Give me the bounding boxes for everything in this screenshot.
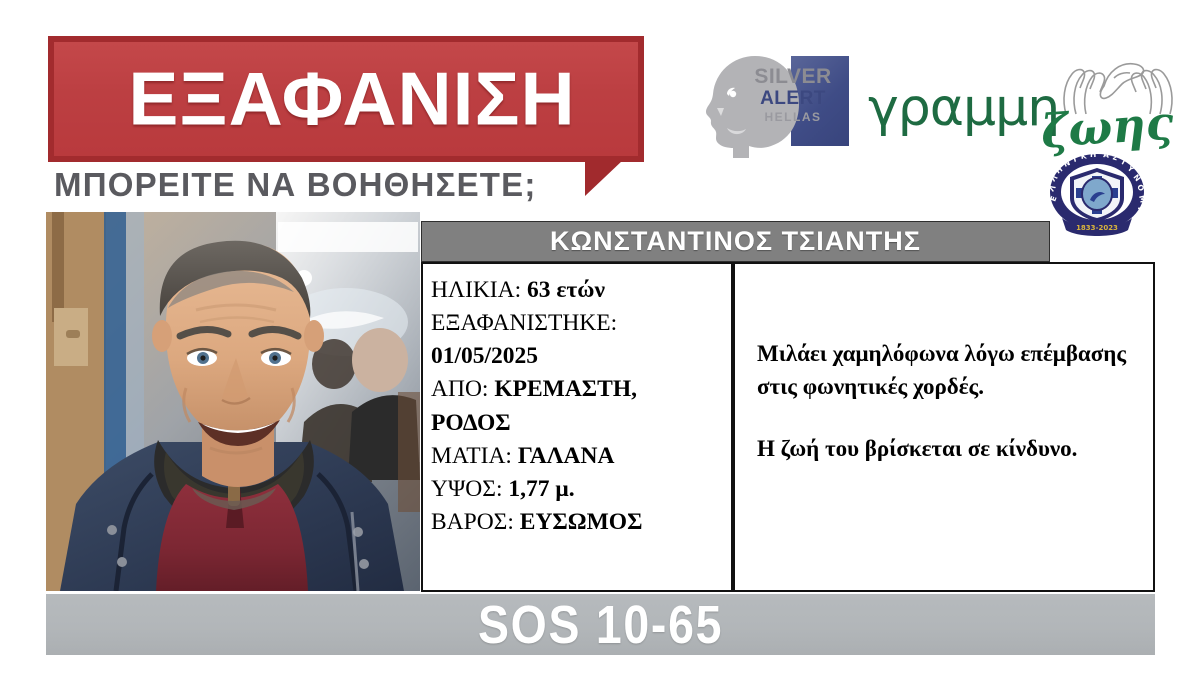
- person-name: ΚΩΝΣΤΑΝΤΙΝΟΣ ΤΣΙΑΝΤΗΣ: [550, 226, 921, 257]
- detail-weight-label: ΒΑΡΟΣ:: [431, 509, 520, 535]
- detail-age-label: ΗΛΙΚΙΑ:: [431, 277, 527, 303]
- alert-banner: ΕΞΑΦΑΝΙΣΗ: [48, 36, 644, 162]
- detail-weight-value: ΕΥΣΩΜΟΣ: [520, 509, 643, 535]
- detail-height-label: ΥΨΟΣ:: [431, 476, 508, 502]
- grammi-zois-logo: γραμμη ζωης: [868, 60, 1168, 160]
- detail-missing-since-date: 01/05/2025: [431, 340, 731, 373]
- alert-banner-tail-icon: [585, 160, 623, 196]
- notes-panel: Μιλάει χαμηλόφωνα λόγω επέμβασης στις φω…: [733, 262, 1155, 592]
- detail-eyes-label: ΜΑΤΙΑ:: [431, 443, 518, 469]
- sos-footer-bar: SOS 10-65: [46, 594, 1155, 655]
- person-name-bar: ΚΩΝΣΤΑΝΤΙΝΟΣ ΤΣΙΑΝΤΗΣ: [421, 221, 1050, 262]
- svg-text:Α: Α: [1132, 215, 1142, 222]
- detail-from: ΑΠΟ: ΚΡΕΜΑΣΤΗ,: [431, 373, 731, 406]
- detail-missing-since-label: ΕΞΑΦΑΝΙΣΤΗΚΕ:: [431, 310, 617, 336]
- silver-alert-line2: ALERT: [745, 89, 841, 108]
- silver-alert-line3: HELLAS: [745, 111, 841, 123]
- detail-from-label: ΑΠΟ:: [431, 376, 494, 402]
- svg-text:1833-2023: 1833-2023: [1076, 224, 1118, 232]
- note-speech: Μιλάει χαμηλόφωνα λόγω επέμβασης στις φω…: [757, 338, 1137, 403]
- detail-height-value: 1,77 μ.: [508, 476, 574, 502]
- sos-phone-number: SOS 10-65: [478, 594, 723, 656]
- details-panel: ΗΛΙΚΙΑ: 63 ετών ΕΞΑΦΑΝΙΣΤΗΚΕ: 01/05/2025…: [421, 262, 733, 592]
- silver-alert-wordmark: SILVER ALERT HELLAS: [745, 66, 841, 123]
- detail-age: ΗΛΙΚΙΑ: 63 ετών: [431, 274, 731, 307]
- alert-banner-label: ΕΞΑΦΑΝΙΣΗ: [48, 62, 644, 137]
- detail-age-value: 63 ετών: [527, 277, 605, 303]
- grammi-word: γραμμη: [868, 82, 1059, 134]
- detail-height: ΥΨΟΣ: 1,77 μ.: [431, 473, 731, 506]
- detail-from-value-second-line: ΡΟΔΟΣ: [431, 407, 731, 440]
- help-question-subtitle: ΜΠΟΡΕΙΤΕ ΝΑ ΒΟΗΘΗΣΕΤΕ;: [54, 166, 537, 204]
- hellenic-police-badge-icon: 1833-2023 Ε Λ Λ Η Ν Ι Κ Η Α Σ Τ Υ Ν Ο Μ …: [1038, 150, 1156, 242]
- missing-person-photo: [46, 212, 420, 591]
- silver-alert-line1: SILVER: [745, 66, 841, 87]
- detail-weight: ΒΑΡΟΣ: ΕΥΣΩΜΟΣ: [431, 506, 731, 539]
- note-spacer: [757, 403, 1137, 433]
- detail-from-value: ΚΡΕΜΑΣΤΗ,: [494, 376, 637, 402]
- detail-missing-since-label-row: ΕΞΑΦΑΝΙΣΤΗΚΕ:: [431, 307, 731, 340]
- svg-text:Ι: Ι: [1136, 207, 1145, 210]
- zois-word: ζωης: [1040, 99, 1175, 154]
- svg-text:Η: Η: [1090, 150, 1096, 159]
- silver-alert-poster: ΕΞΑΦΑΝΙΣΗ ΜΠΟΡΕΙΤΕ ΝΑ ΒΟΗΘΗΣΕΤΕ; SILVER …: [0, 0, 1200, 675]
- detail-eyes: ΜΑΤΙΑ: ΓΑΛΑΝΑ: [431, 440, 731, 473]
- silver-alert-logo: SILVER ALERT HELLAS: [697, 50, 849, 162]
- svg-text:Μ: Μ: [1137, 194, 1148, 203]
- note-danger: Η ζωή του βρίσκεται σε κίνδυνο.: [757, 433, 1137, 466]
- detail-eyes-value: ΓΑΛΑΝΑ: [518, 443, 615, 469]
